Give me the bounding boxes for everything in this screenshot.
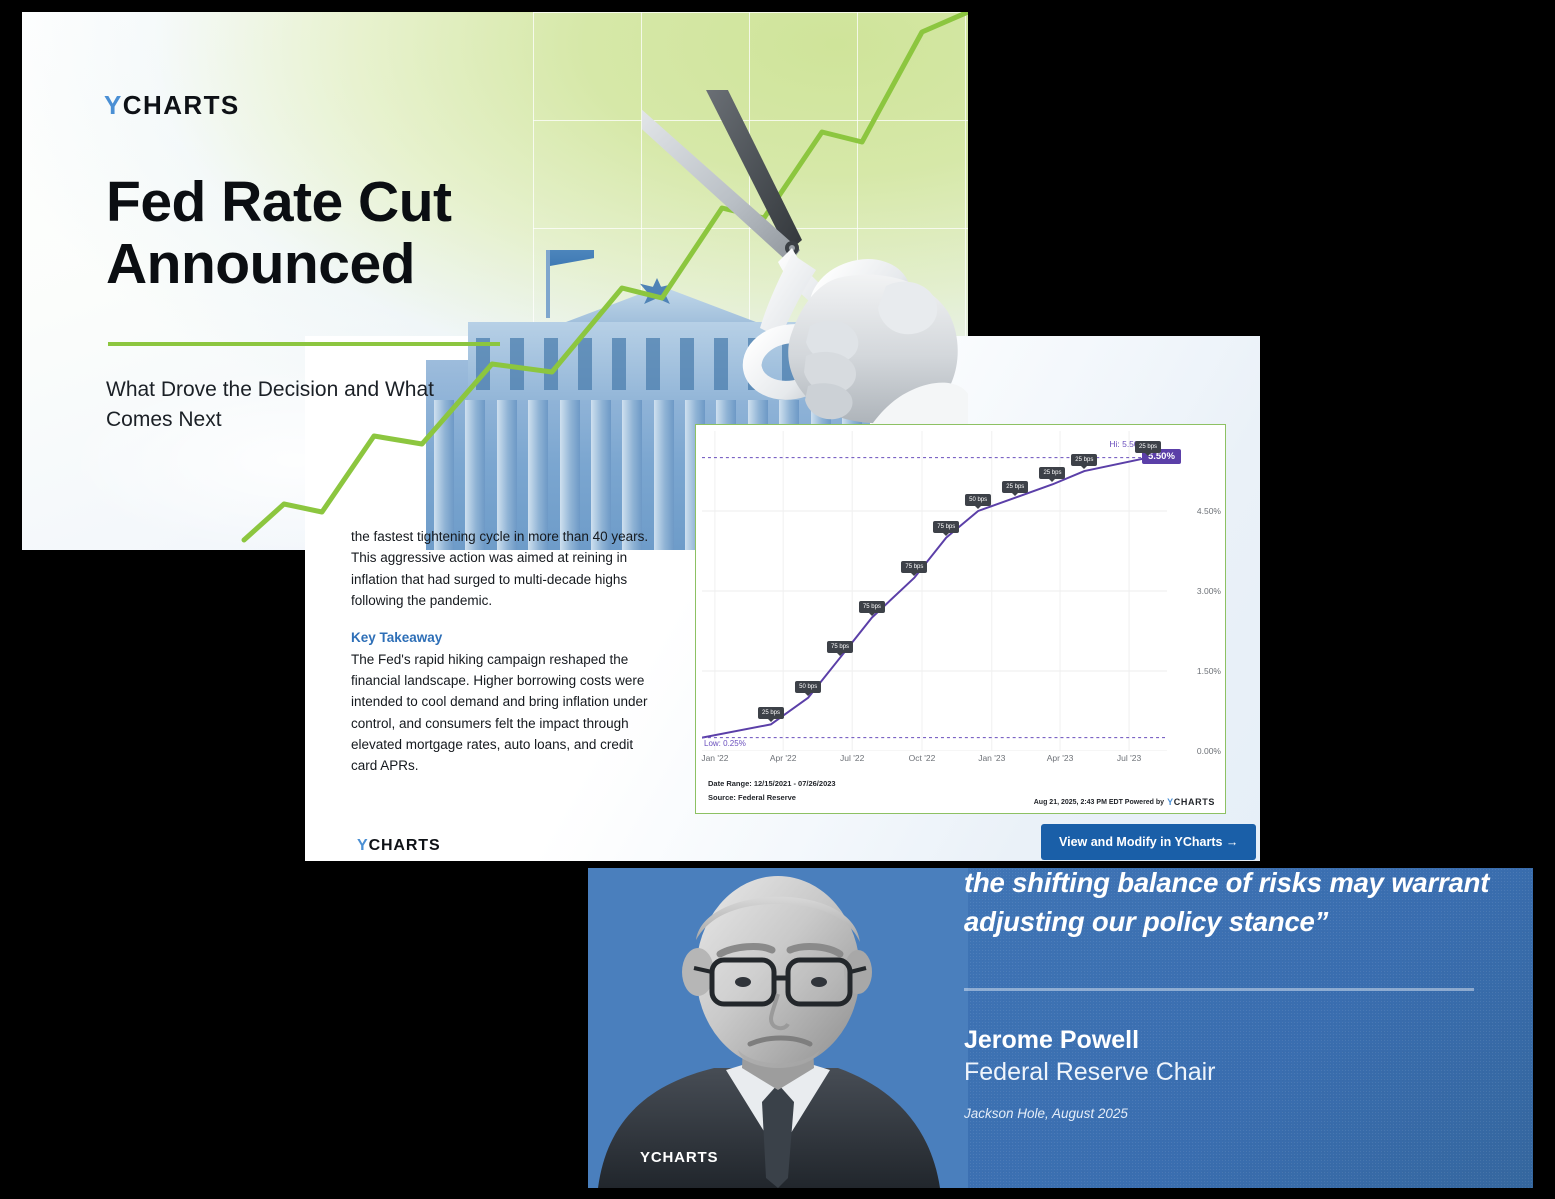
powell-quote-text: “...ive territory, the baseline outlook … [964, 868, 1516, 941]
chart-timestamp: Aug 21, 2025, 2:43 PM EDT Powered by YCH… [1034, 797, 1215, 807]
scissors-cutting-graphic [642, 90, 968, 430]
title-subtitle: What Drove the Decision and What Comes N… [106, 375, 506, 435]
quote-attribution-role: Federal Reserve Chair [964, 1058, 1216, 1087]
chart-timestamp-text: Aug 21, 2025, 2:43 PM EDT Powered by [1034, 799, 1164, 806]
chart-svg [702, 431, 1167, 751]
ycharts-logo-text: CHARTS [123, 90, 240, 120]
chart-x-tick: Jan '23 [978, 753, 1005, 763]
chart-annotation-bps: 25 bps [758, 707, 784, 719]
chart-annotation-bps: 75 bps [901, 561, 927, 573]
body-text-column: the fastest tightening cycle in more tha… [351, 526, 651, 777]
view-and-modify-in-ycharts-button[interactable]: View and Modify in YCharts → [1041, 824, 1256, 860]
chart-annotation-bps: 75 bps [827, 641, 853, 653]
key-takeaway-body: The Fed's rapid hiking campaign reshaped… [351, 649, 651, 777]
key-takeaway-heading: Key Takeaway [351, 628, 651, 648]
chart-annotation-bps: 50 bps [965, 494, 991, 506]
chart-x-tick: Jul '22 [840, 753, 864, 763]
chart-x-tick: Apr '22 [770, 753, 797, 763]
chart-annotation-bps: 25 bps [1039, 467, 1065, 479]
chart-date-range: Date Range: 12/15/2021 - 07/26/2023 [708, 777, 1215, 791]
chart-annotation-bps: 75 bps [933, 521, 959, 533]
chart-x-axis: Jan '22Apr '22Jul '22Oct '22Jan '23Apr '… [702, 753, 1167, 767]
quote-attribution-name: Jerome Powell [964, 1026, 1139, 1055]
chart-y-tick: 3.00% [1197, 586, 1221, 596]
chart-y-tick: 4.50% [1197, 506, 1221, 516]
ycharts-logo-y: Y [1167, 797, 1174, 807]
fed-funds-rate-chart-panel[interactable]: Hi: 5.50% 5.50% Low: 0.25% 25 bps50 bps7… [695, 424, 1226, 814]
chart-annotation-bps: 25 bps [1071, 454, 1097, 466]
slide-deck-canvas: YCHARTS Fed Rate Cut Announced What Drov… [0, 0, 1555, 1199]
chart-x-tick: Jul '23 [1117, 753, 1141, 763]
ycharts-logo-chart: YCHARTS [1167, 797, 1215, 807]
ycharts-logo-y: Y [104, 90, 123, 120]
chart-annotation-bps: 75 bps [859, 601, 885, 613]
chart-y-axis: 0.00%1.50%3.00%4.50% [1169, 431, 1225, 751]
ycharts-logo-quote: YCHARTS [640, 1149, 718, 1166]
quote-slide-card: YCHARTS “...ive territory, the baseline … [588, 868, 1533, 1188]
chart-low-label: Low: 0.25% [704, 739, 746, 748]
ycharts-logo-y: Y [357, 837, 369, 854]
ycharts-logo-text: CHARTS [1174, 797, 1215, 807]
ycharts-logo-y: Y [640, 1149, 651, 1166]
chart-y-tick: 0.00% [1197, 746, 1221, 756]
chart-x-tick: Apr '23 [1047, 753, 1074, 763]
chart-plot-area: Hi: 5.50% 5.50% Low: 0.25% 25 bps50 bps7… [702, 431, 1167, 751]
quote-divider [964, 988, 1474, 991]
chart-annotation-bps: 50 bps [795, 681, 821, 693]
title-divider [108, 342, 500, 346]
ycharts-logo-title: YCHARTS [104, 90, 240, 121]
chart-annotation-bps: 25 bps [1002, 481, 1028, 493]
ycharts-logo-body: YCHARTS [357, 837, 441, 855]
ycharts-logo-text: CHARTS [369, 837, 441, 854]
ycharts-logo-text: CHARTS [651, 1149, 718, 1166]
page-title: Fed Rate Cut Announced [106, 172, 576, 295]
quote-attribution-location: Jackson Hole, August 2025 [964, 1106, 1128, 1121]
chart-x-tick: Jan '22 [701, 753, 728, 763]
jerome-powell-photo [588, 868, 968, 1188]
chart-y-tick: 1.50% [1197, 666, 1221, 676]
chart-annotation-bps: 25 bps [1135, 441, 1161, 453]
chart-x-tick: Oct '22 [909, 753, 936, 763]
key-takeaway-block: Key Takeaway The Fed's rapid hiking camp… [351, 628, 651, 776]
